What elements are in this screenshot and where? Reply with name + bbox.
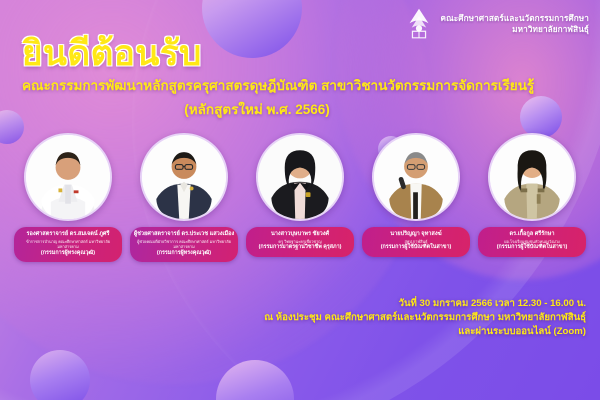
- member-role: ข้าราชการบำนาญ คณะศึกษาศาสตร์ มหาวิทยาลั…: [17, 239, 119, 250]
- member-tag: (กรรมการผู้ทรงคุณวุฒิ): [17, 250, 119, 258]
- portrait-photo-icon: [490, 135, 574, 219]
- committee-member: รองศาสตราจารย์ ดร.สมเจตน์ ภูศรี ข้าราชกา…: [14, 133, 122, 262]
- headline-block: ยินดีต้อนรับ คณะกรรมการพัฒนาหลักสูตรครุศ…: [22, 36, 534, 120]
- portrait-photo-icon: [142, 135, 226, 219]
- committee-member: นายปริญญา จุทาสงฆ์ สพป.กาฬสินธุ์ (กรรมกา…: [362, 133, 470, 262]
- headline-subtitle: คณะกรรมการพัฒนาหลักสูตรครุศาสตรดุษฎีบัณฑ…: [22, 78, 534, 94]
- event-online: และผ่านระบบออนไลน์ (Zoom): [264, 325, 586, 339]
- avatar: [24, 133, 112, 221]
- event-datetime: วันที่ 30 มกราคม 2566 เวลา 12.30 - 16.00…: [264, 297, 586, 311]
- member-name: รองศาสตราจารย์ ดร.สมเจตน์ ภูศรี: [17, 231, 119, 239]
- member-badge: นางสาวบุษบาพร ชัยวงศ์ ครู วิทยฐานะครูเชี…: [246, 227, 354, 257]
- member-name: ดร.เกื้อกูล ศรีรักษา: [481, 231, 583, 239]
- member-tag: (กรรมการผู้ใช้บัณฑิตในสาขา): [365, 244, 467, 252]
- brand-line-1: คณะศึกษาศาสตร์และนวัตกรรมการศึกษา: [441, 13, 589, 24]
- brand-line-2: มหาวิทยาลัยกาฬสินธุ์: [441, 24, 589, 35]
- member-badge: รองศาสตราจารย์ ดร.สมเจตน์ ภูศรี ข้าราชกา…: [14, 227, 122, 262]
- event-details: วันที่ 30 มกราคม 2566 เวลา 12.30 - 16.00…: [264, 297, 586, 339]
- page-title: ยินดีต้อนรับ: [22, 36, 534, 71]
- avatar: [488, 133, 576, 221]
- member-badge: ผู้ช่วยศาสตราจารย์ ดร.ประเวช แสวงเมือง ผ…: [130, 227, 238, 262]
- member-tag: (กรรมการผู้ใช้บัณฑิตในสาขา): [481, 244, 583, 252]
- member-role: ผอ.โรงเรียนชุมชนหัวหนองวังม่วง: [481, 239, 583, 244]
- member-badge: นายปริญญา จุทาสงฆ์ สพป.กาฬสินธุ์ (กรรมกา…: [362, 227, 470, 257]
- event-venue: ณ ห้องประชุม คณะศึกษาศาสตร์และนวัตกรรมกา…: [264, 311, 586, 325]
- committee-member: ดร.เกื้อกูล ศรีรักษา ผอ.โรงเรียนชุมชนหัว…: [478, 133, 586, 262]
- committee-member: นางสาวบุษบาพร ชัยวงศ์ ครู วิทยฐานะครูเชี…: [246, 133, 354, 262]
- member-name: นางสาวบุษบาพร ชัยวงศ์: [249, 231, 351, 239]
- member-role: สพป.กาฬสินธุ์: [365, 239, 467, 244]
- avatar: [140, 133, 228, 221]
- member-badge: ดร.เกื้อกูล ศรีรักษา ผอ.โรงเรียนชุมชนหัว…: [478, 227, 586, 257]
- portrait-photo-icon: [258, 135, 342, 219]
- portrait-photo-icon: [26, 135, 110, 219]
- committee-member-list: รองศาสตราจารย์ ดร.สมเจตน์ ภูศรี ข้าราชกา…: [0, 133, 600, 262]
- poster-canvas: คณะศึกษาศาสตร์และนวัตกรรมการศึกษา มหาวิท…: [0, 0, 600, 400]
- committee-member: ผู้ช่วยศาสตราจารย์ ดร.ประเวช แสวงเมือง ผ…: [130, 133, 238, 262]
- avatar: [372, 133, 460, 221]
- headline-program-note: (หลักสูตรใหม่ พ.ศ. 2566): [22, 98, 492, 120]
- member-role: ครู วิทยฐานะครูเชี่ยวชาญ: [249, 239, 351, 244]
- member-tag: (กรรมการมาตรฐานวิชาชีพ คุรุสภา): [249, 244, 351, 252]
- member-tag: (กรรมการผู้ทรงคุณวุฒิ): [133, 250, 235, 258]
- portrait-photo-icon: [374, 135, 458, 219]
- member-role: ผู้ช่วยคณบดีฝ่ายวิชาการ คณะศึกษาศาสตร์ ม…: [133, 239, 235, 250]
- member-name: นายปริญญา จุทาสงฆ์: [365, 231, 467, 239]
- member-name: ผู้ช่วยศาสตราจารย์ ดร.ประเวช แสวงเมือง: [133, 231, 235, 239]
- avatar: [256, 133, 344, 221]
